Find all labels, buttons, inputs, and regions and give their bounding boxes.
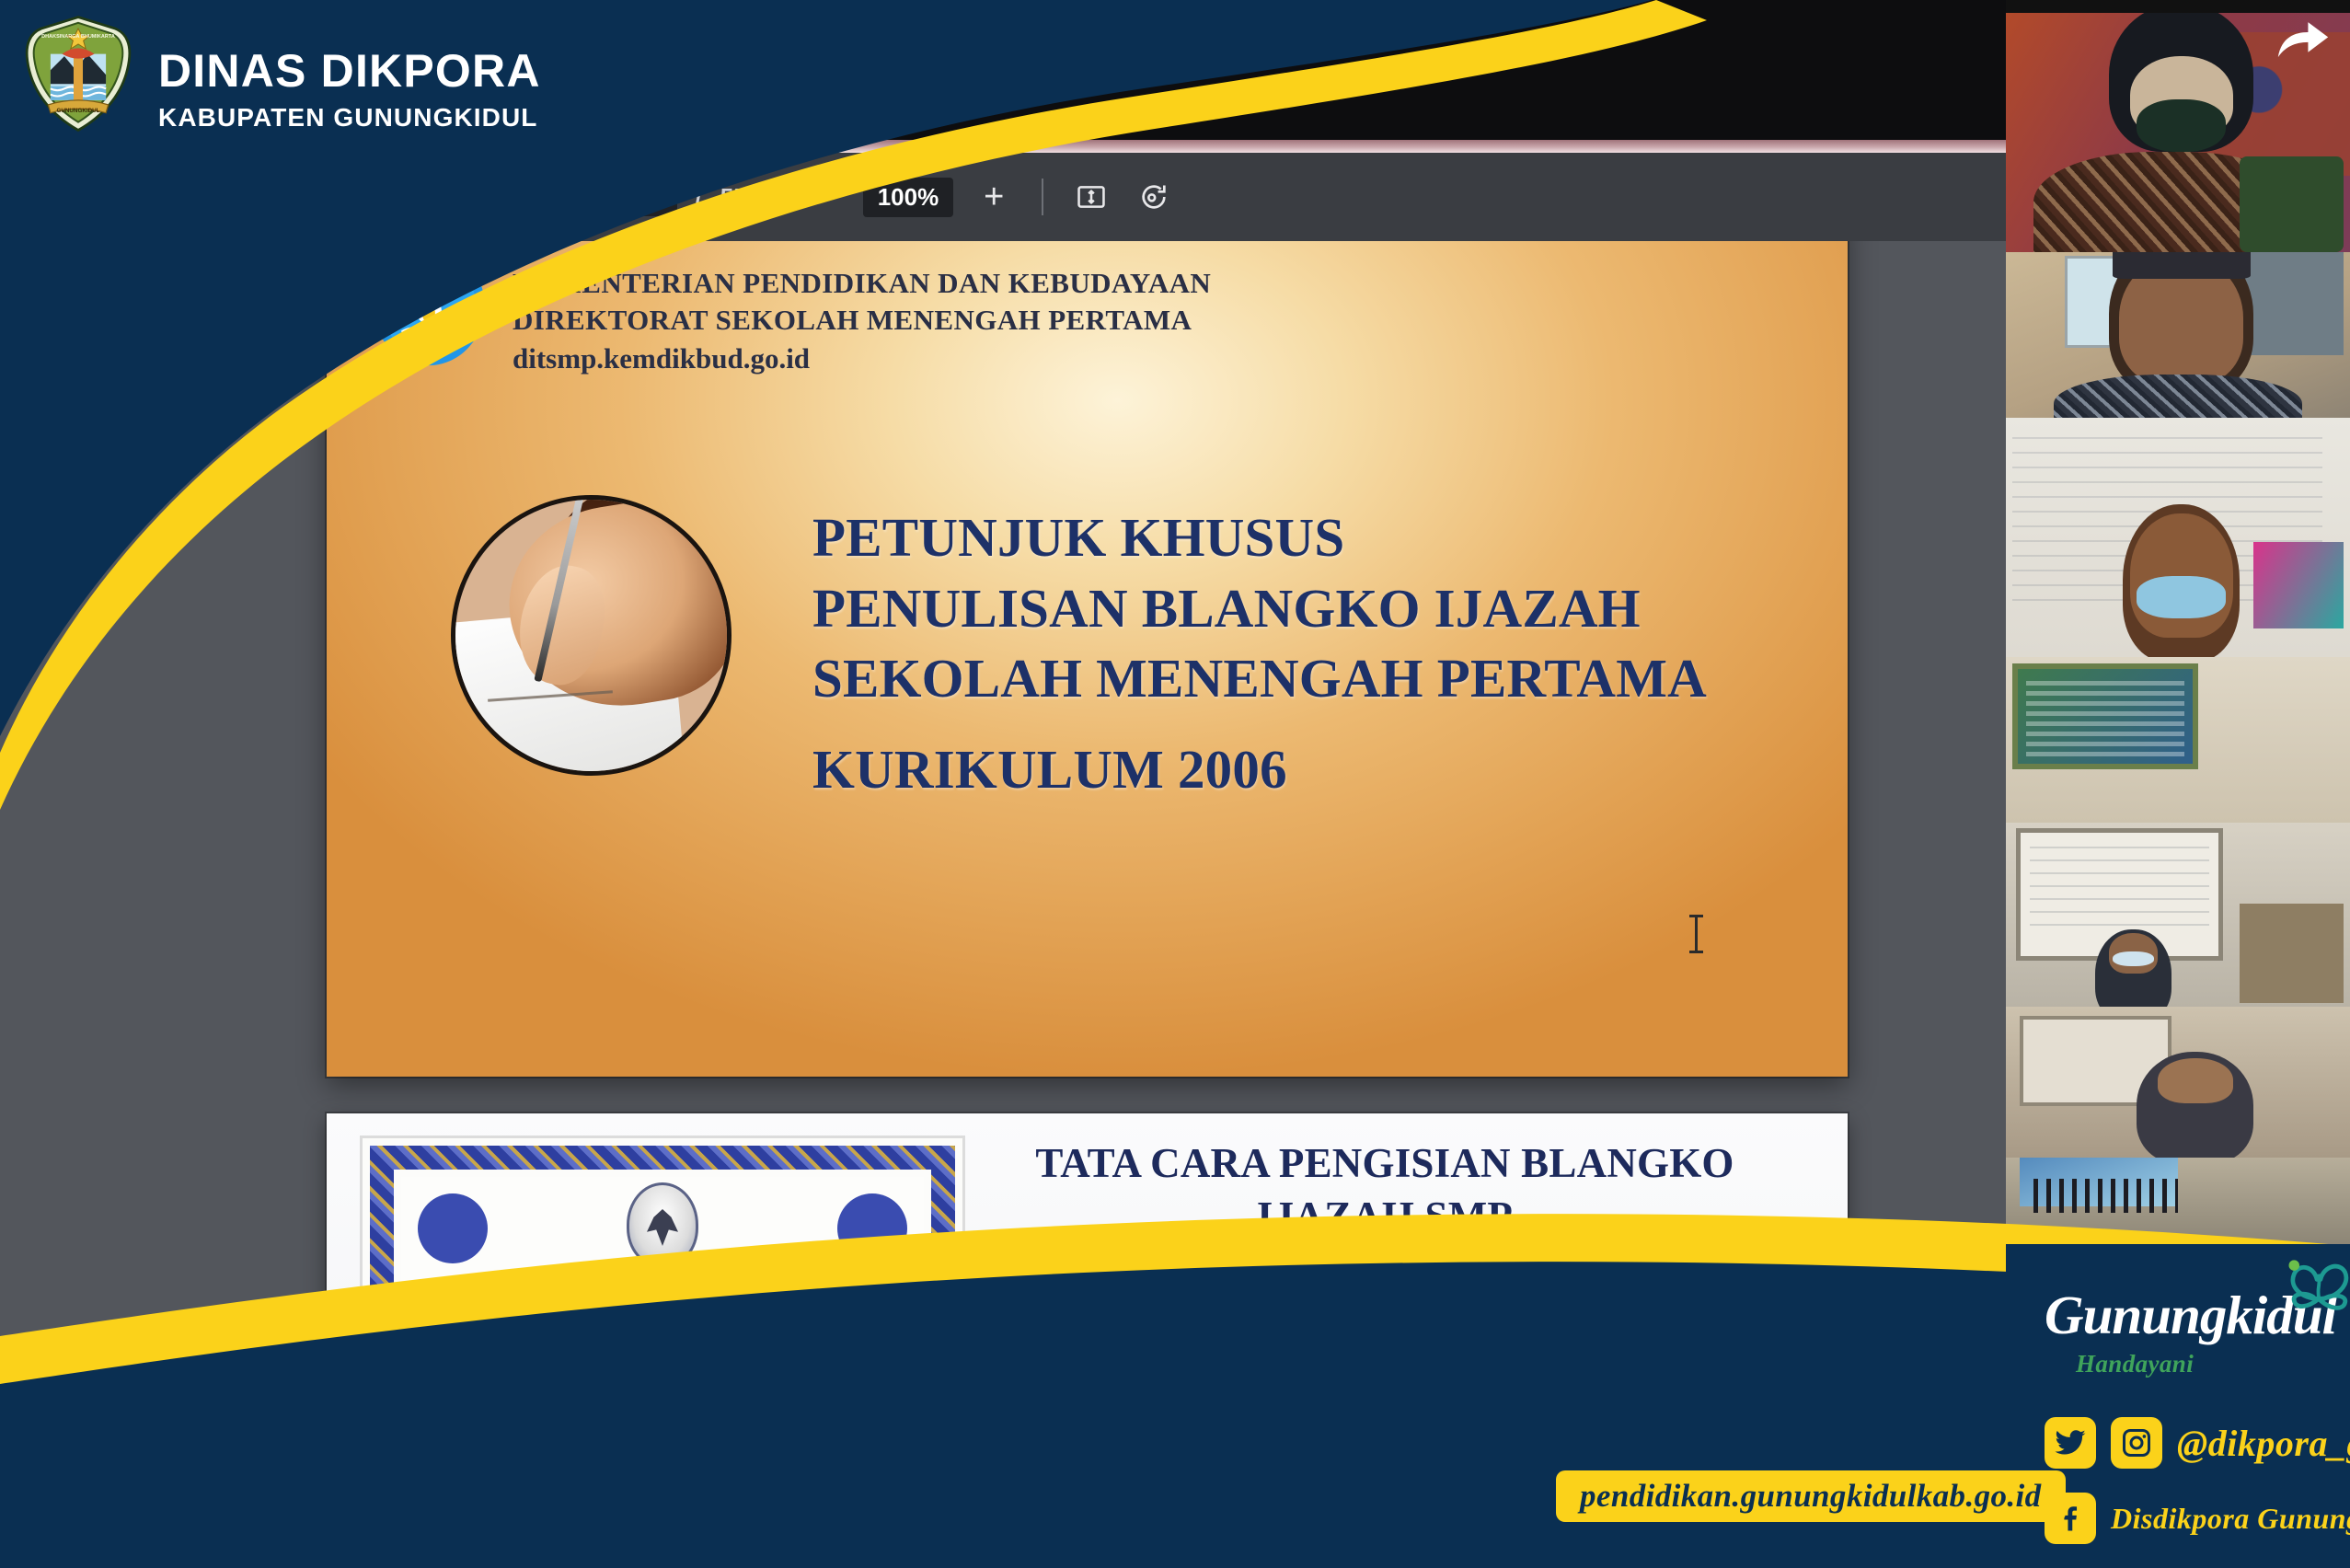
participant-tile-3[interactable] — [2006, 418, 2350, 657]
page-number-input[interactable]: 12 — [626, 179, 677, 216]
toolbar-divider-2 — [1042, 179, 1043, 215]
page-subtitle: KABUPATEN GUNUNGKIDUL — [158, 105, 541, 131]
facebook-handle: Disdikpora Gunungkidul — [2111, 1502, 2350, 1536]
participant-tile-4[interactable] — [2006, 657, 2350, 823]
social-handle: @dikpora_gk — [2177, 1422, 2350, 1465]
pdf-page-surface[interactable]: TUT WURI HANDAYANI KEMENTERIAN PENDIDIKA… — [0, 241, 2006, 1568]
brand-tagline: Handayani — [2076, 1350, 2339, 1378]
participant-tile-7[interactable] — [2006, 1158, 2350, 1244]
header-text-block: DINAS DIKPORA KABUPATEN GUNUNGKIDUL — [158, 48, 541, 131]
twitter-icon[interactable] — [2045, 1417, 2096, 1469]
svg-text:DHAKSINARGA BHUMIKARTA: DHAKSINARGA BHUMIKARTA — [41, 34, 115, 40]
list-item-badge: 3 — [976, 1496, 1020, 1540]
rotate-icon[interactable] — [1132, 175, 1176, 219]
cert-field-2: Nomor Pokok Sekolah Nasional — [460, 1545, 668, 1561]
cert-level: SEKOLAH MENENGAH PERTAMA — [401, 1394, 924, 1416]
list-item: 2 Nomor Pokok Sekolah Nasional (NPSN) — [976, 1410, 1804, 1456]
pdf-page-12: TUT WURI HANDAYANI KEMENTERIAN PENDIDIKA… — [327, 241, 1848, 1077]
tut-wuri-handayani-logo-icon: TUT WURI HANDAYANI — [365, 245, 492, 372]
slide-title-line-4: KURIKULUM 2006 — [812, 734, 1797, 805]
gunungkidul-brand-logo: Gunungkidul Handayani — [2045, 1288, 2339, 1378]
page-separator: / — [696, 183, 702, 212]
ministry-line-1: KEMENTERIAN PENDIDIKAN DAN KEBUDAYAAN — [513, 265, 1211, 302]
cert-marker-1: 1 — [705, 1458, 747, 1501]
participant-tile-6[interactable] — [2006, 1007, 2350, 1158]
ijazah-certificate-image: KEMENTERIAN PENDIDIKAN DAN KEBUDAYAAN RE… — [360, 1136, 965, 1568]
ministry-line-2: DIREKTORAT SEKOLAH MENENGAH PERTAMA — [513, 302, 1211, 339]
video-participants-panel[interactable] — [2006, 0, 2350, 1244]
fit-page-icon[interactable] — [1069, 175, 1113, 219]
participant-tile-5[interactable] — [2006, 823, 2350, 1007]
list-item: 1 Nama sekolah bersangkutan yang menerbi… — [976, 1281, 1804, 1371]
slide2-title-line-1: TATA CARA PENGISIAN BLANGKO IJAZAH SMP — [971, 1137, 1799, 1243]
instagram-icon[interactable] — [2111, 1417, 2162, 1469]
list-item-text: Nomor Pokok Sekolah Nasional (NPSN) — [1037, 1410, 1595, 1455]
text-cursor-icon — [1695, 915, 1698, 953]
garuda-pancasila-icon — [627, 1182, 698, 1267]
hand-writing-with-pen-photo — [451, 495, 731, 776]
pdf-toolbar: 12 / 55 − 100% + — [0, 153, 2006, 241]
cert-ministry-line-2: REPUBLIK INDONESIA — [401, 1309, 924, 1330]
cert-field-1: Yang bertanda tangan di bawah ini, Kepal… — [460, 1473, 740, 1489]
gunungkidul-regency-crest-icon: GUNUNGKIDUL DHAKSINARGA BHUMIKARTA — [20, 15, 136, 133]
cert-doc-type: IJAZAH — [401, 1348, 924, 1379]
butterfly-logo-icon — [2275, 1248, 2350, 1327]
app-root: 12 / 55 − 100% + — [0, 0, 2350, 1568]
slide-title-line-1: PETUNJUK KHUSUS — [812, 502, 1797, 573]
browser-chrome-strip — [0, 140, 2006, 153]
slide-title-line-2: PENULISAN BLANGKO IJAZAH — [812, 573, 1797, 644]
list-item-badge: 1 — [976, 1283, 1020, 1327]
cert-marker-2: 2 — [642, 1532, 685, 1568]
website-badge[interactable]: pendidikan.gunungkidulkab.go.id — [1556, 1470, 2066, 1522]
cert-ministry-line-1: KEMENTERIAN PENDIDIKAN DAN KEBUDAYAAN — [401, 1286, 924, 1306]
svg-text:TUT WURI HANDAYANI: TUT WURI HANDAYANI — [384, 257, 475, 266]
kemdikbud-header: TUT WURI HANDAYANI KEMENTERIAN PENDIDIKA… — [365, 245, 1211, 378]
screen-share-area: 12 / 55 − 100% + — [0, 0, 2006, 1568]
social-row-primary: @dikpora_gk — [2045, 1417, 2350, 1469]
slide2-title: TATA CARA PENGISIAN BLANGKO IJAZAH SMP K… — [971, 1137, 1799, 1297]
page-title: DINAS DIKPORA — [158, 48, 541, 94]
list-item-text: Nama sekolah bersangkutan yang menerbitk… — [1037, 1281, 1804, 1371]
total-pages-label: 55 — [720, 183, 747, 212]
social-row-facebook: Disdikpora Gunungkidul — [2045, 1493, 2350, 1544]
slide-title-line-3: SEKOLAH MENENGAH PERTAMA — [812, 643, 1797, 714]
zoom-in-button[interactable]: + — [972, 175, 1016, 219]
participant-tile-2[interactable] — [2006, 252, 2350, 418]
slide-title: PETUNJUK KHUSUS PENULISAN BLANGKO IJAZAH… — [812, 502, 1797, 805]
list-item-badge: 2 — [976, 1412, 1020, 1456]
cert-school-year: TAHUN PELAJARAN 2020/2021 — [401, 1420, 924, 1435]
zoom-level-input[interactable]: 100% — [863, 178, 954, 217]
slide2-instruction-list: 1 Nama sekolah bersangkutan yang menerbi… — [976, 1281, 1804, 1568]
share-arrow-icon[interactable] — [2276, 20, 2330, 61]
svg-text:GUNUNGKIDUL: GUNUNGKIDUL — [57, 108, 100, 114]
ministry-url: ditsmp.kemdikbud.go.id — [513, 340, 1211, 378]
zoom-out-button[interactable]: − — [801, 175, 845, 219]
toolbar-divider-1 — [773, 179, 775, 215]
